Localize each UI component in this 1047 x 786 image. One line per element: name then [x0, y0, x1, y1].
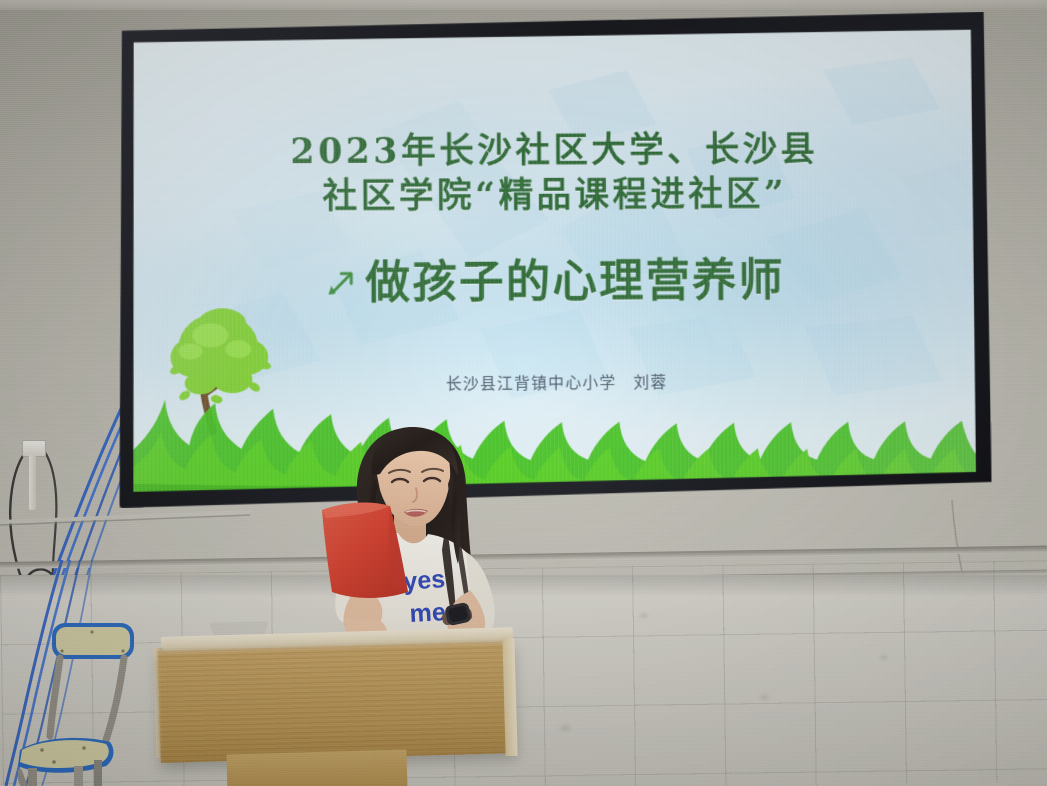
screen-scanlines — [131, 30, 976, 492]
red-folder[interactable] — [318, 496, 438, 608]
wall-fixture-stem — [29, 455, 36, 510]
tile-smudge — [560, 725, 571, 731]
tile-smudge — [880, 655, 887, 660]
display-screen: 2023年长沙社区大学、长沙县 社区学院“精品课程进社区” 做孩子的心理营养师 … — [131, 30, 976, 492]
lectern-base — [226, 749, 407, 786]
wall-display[interactable]: 2023年长沙社区大学、长沙县 社区学院“精品课程进社区” 做孩子的心理营养师 … — [116, 12, 991, 508]
ceiling-edge — [0, 0, 1047, 10]
lectern-front-panel — [158, 641, 517, 763]
tile-smudge — [760, 695, 769, 700]
school-chair[interactable] — [18, 620, 168, 786]
photo-scene: 2023年长沙社区大学、长沙县 社区学院“精品课程进社区” 做孩子的心理营养师 … — [0, 0, 1047, 786]
tile-smudge — [640, 613, 648, 618]
wooden-lectern — [155, 632, 515, 786]
